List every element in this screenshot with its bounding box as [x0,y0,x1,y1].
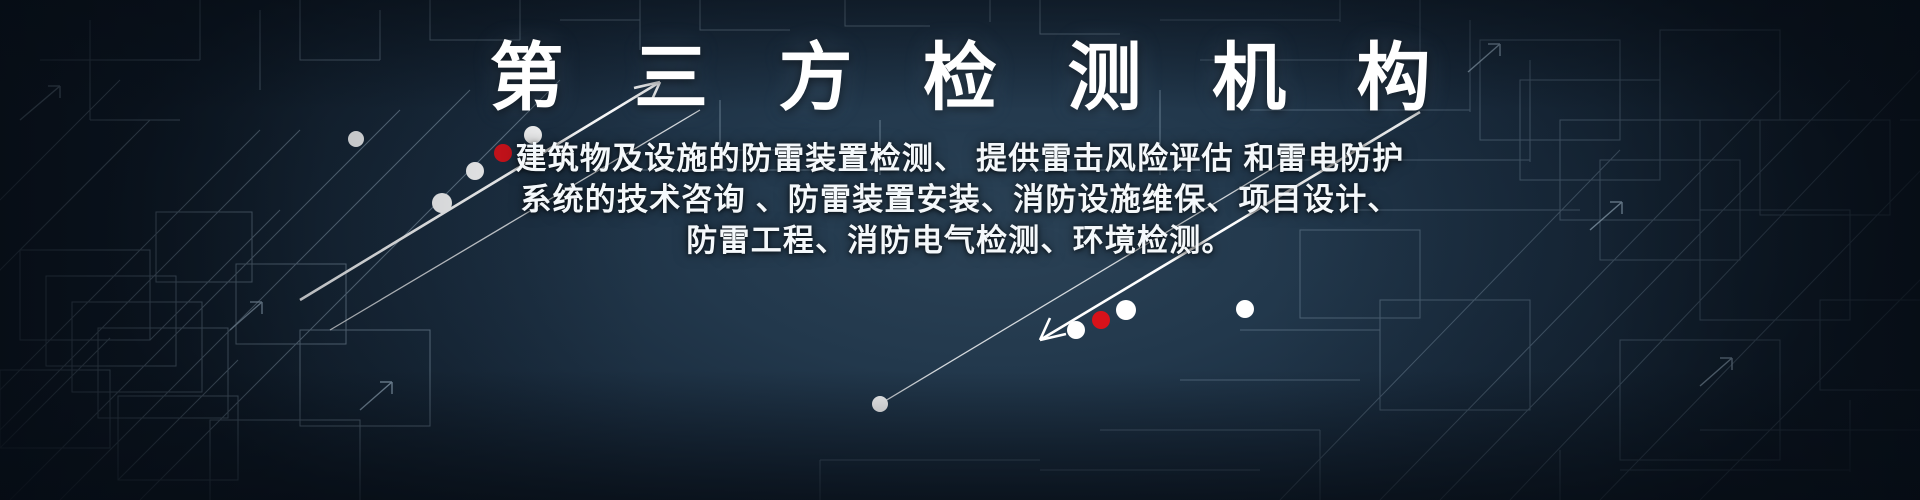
banner-content: 第 三 方 检 测 机 构 建筑物及设施的防雷装置检测、 提供雷击风险评估 和雷… [0,0,1920,500]
subtitle-line-3: 防雷工程、消防电气检测、环境检测。 [515,220,1404,261]
subtitle-line-1: 建筑物及设施的防雷装置检测、 提供雷击风险评估 和雷电防护 [515,138,1404,179]
banner-subtitle: 建筑物及设施的防雷装置检测、 提供雷击风险评估 和雷电防护 系统的技术咨询 、防… [515,138,1404,261]
subtitle-line-2: 系统的技术咨询 、防雷装置安装、消防设施维保、项目设计、 [515,179,1404,220]
page-title: 第 三 方 检 测 机 构 [464,42,1457,116]
hero-banner: 第 三 方 检 测 机 构 建筑物及设施的防雷装置检测、 提供雷击风险评估 和雷… [0,0,1920,500]
